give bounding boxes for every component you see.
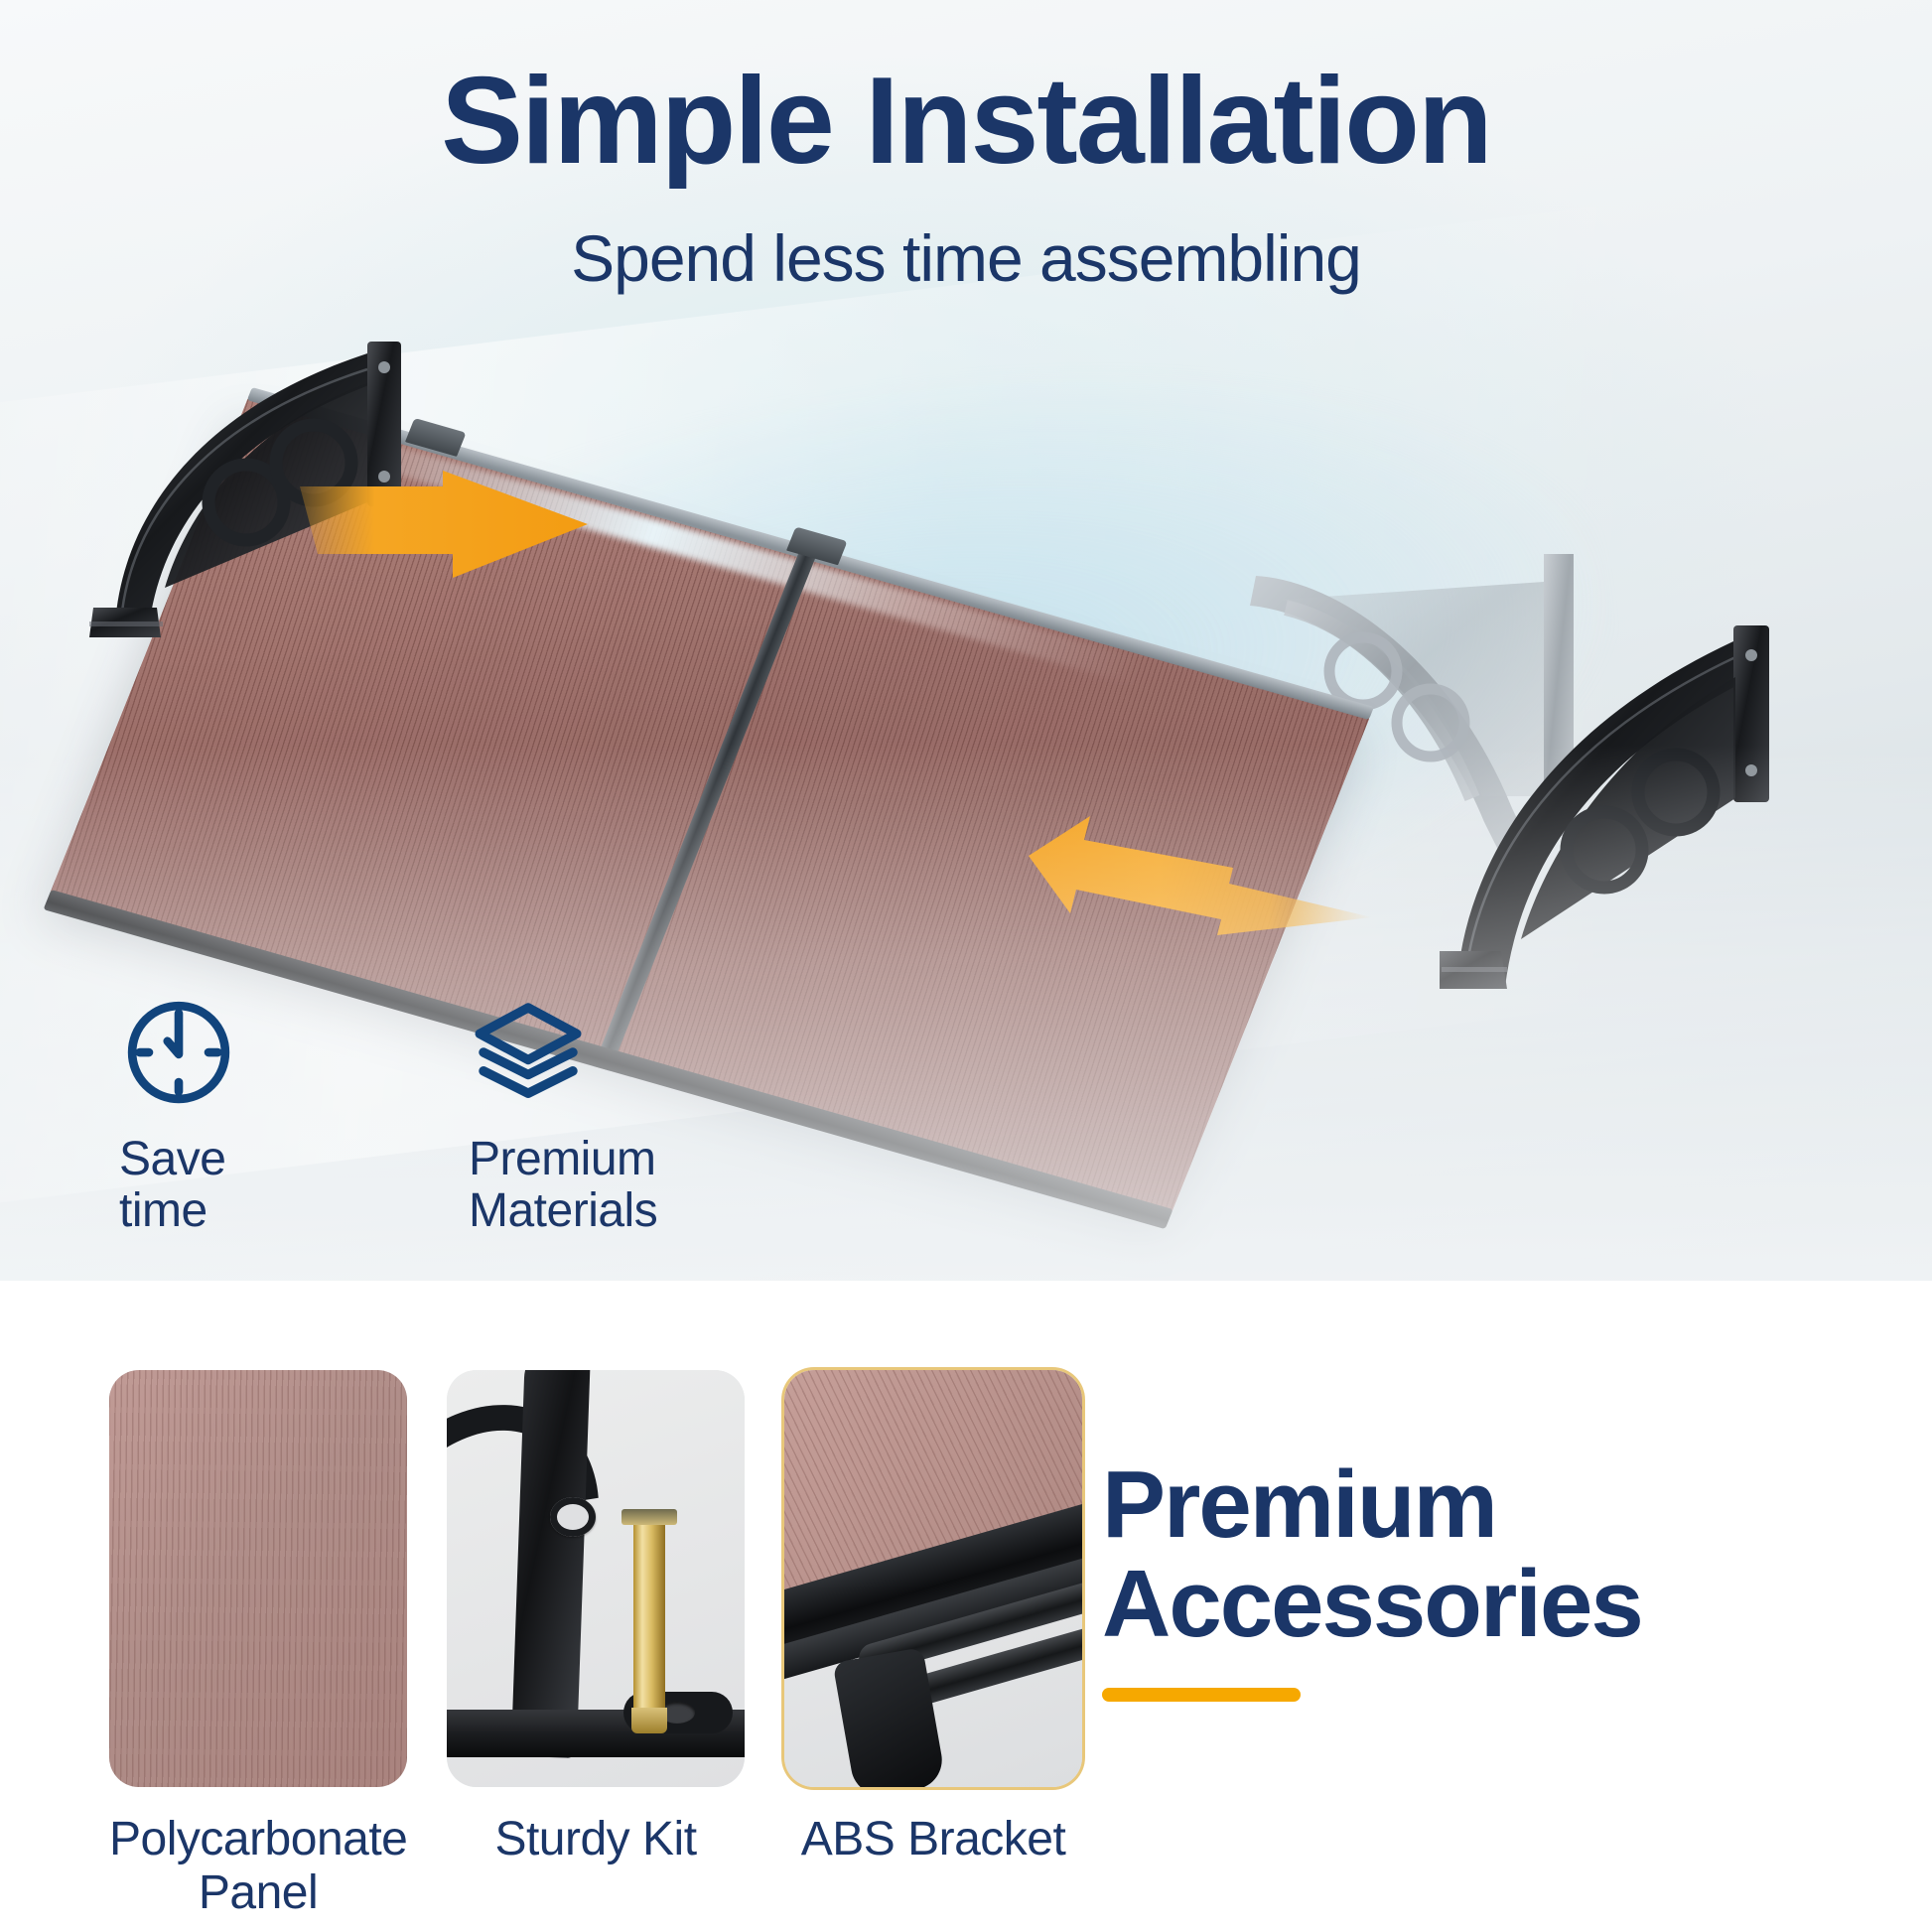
layers-icon — [469, 993, 657, 1112]
expansion-bolt-tip — [631, 1708, 667, 1733]
feature-list: Save time Premium Materials — [119, 993, 657, 1237]
card-label: ABS Bracket — [784, 1813, 1082, 1866]
bracket-right-shape — [1440, 594, 1857, 1021]
product-illustration — [0, 328, 1932, 1082]
expansion-bolt — [633, 1519, 665, 1714]
arrow-left-up-icon — [1023, 802, 1380, 961]
accessory-card-list: Polycarbonate Panel Sturdy Kit — [109, 1370, 1082, 1920]
feature-premium-materials: Premium Materials — [469, 993, 657, 1237]
card-thumbnail — [109, 1370, 407, 1787]
accessory-card-sturdy-kit[interactable]: Sturdy Kit — [447, 1370, 745, 1920]
polycarbonate-swatch — [109, 1370, 407, 1787]
accessories-headline-block: Premium Accessories — [1102, 1455, 1896, 1702]
accessories-headline-line2: Accessories — [1102, 1555, 1896, 1654]
kit-base-rail-lower — [447, 1731, 745, 1757]
bracket-right — [1440, 594, 1857, 1021]
card-label: Sturdy Kit — [447, 1813, 745, 1866]
hero-section: Simple Installation Spend less time asse… — [0, 0, 1932, 1281]
arrow-right-down-icon — [294, 469, 612, 608]
accessory-card-abs-bracket[interactable]: ABS Bracket — [784, 1370, 1082, 1920]
expansion-bolt-head — [621, 1509, 677, 1525]
card-label: Polycarbonate Panel — [109, 1813, 407, 1920]
accent-underline-bar — [1102, 1688, 1301, 1702]
page-subtitle: Spend less time assembling — [0, 220, 1932, 296]
card-thumbnail — [447, 1370, 745, 1787]
card-thumbnail — [784, 1370, 1082, 1787]
kit-lightening-hole — [550, 1497, 596, 1537]
feature-label: Premium Materials — [469, 1134, 657, 1237]
feature-label: Save time — [119, 1134, 308, 1237]
feature-save-time: Save time — [119, 993, 308, 1237]
accessory-card-polycarbonate-panel[interactable]: Polycarbonate Panel — [109, 1370, 407, 1920]
install-arrow-left-icon — [294, 469, 612, 608]
accessories-section: Polycarbonate Panel Sturdy Kit — [0, 1281, 1932, 1932]
accessories-headline-line1: Premium — [1102, 1455, 1896, 1555]
page-title: Simple Installation — [0, 56, 1932, 189]
clock-icon — [119, 993, 308, 1112]
install-arrow-right-icon — [1023, 802, 1380, 961]
